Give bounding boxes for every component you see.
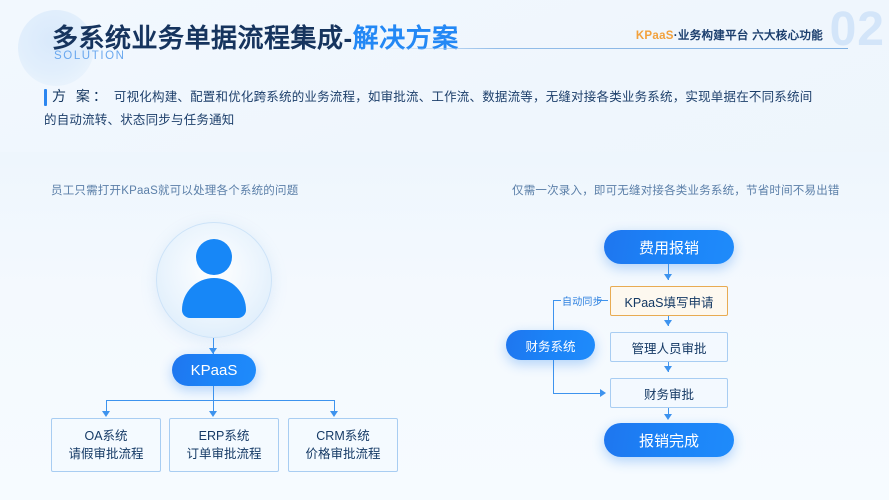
slide-header: 多系统业务单据流程集成-解决方案 SOLUTION KPaaS·业务构建平台 六…	[0, 0, 889, 78]
system-node-crm[interactable]: CRM系统 价格审批流程	[288, 418, 398, 472]
system-node-oa-title: OA系统	[84, 427, 127, 445]
brand-tag-name: KPaaS	[636, 30, 674, 42]
system-node-oa[interactable]: OA系统 请假审批流程	[51, 418, 161, 472]
header-divider	[380, 48, 848, 49]
lead-label: 方 案：	[52, 86, 110, 106]
flow-node-finance-system[interactable]: 财务系统	[506, 330, 595, 360]
system-node-erp-desc: 订单审批流程	[186, 445, 261, 463]
flow-node-kpaas-apply[interactable]: KPaaS填写申请	[610, 286, 728, 316]
flow-node-finance-approval[interactable]: 财务审批	[610, 378, 728, 408]
lead-text-line2: 的自动流转、状态同步与任务通知	[44, 109, 844, 131]
sync-dash-right	[597, 300, 608, 301]
sync-dash-left	[553, 300, 561, 301]
connector-sync-horizontal	[553, 393, 603, 394]
page-title-text: 多系统业务单据流程集成-	[52, 23, 353, 53]
connector-hub-bus	[106, 400, 334, 401]
right-panel-caption: 仅需一次录入，即可无缝对接各类业务系统，节省时间不易出错	[512, 182, 840, 198]
lead-paragraph: 方 案： 可视化构建、配置和优化跨系统的业务流程，如审批流、工作流、数据流等，无…	[44, 86, 844, 131]
arrow-to-crm	[330, 411, 338, 417]
brand-tag: KPaaS·业务构建平台 六大核心功能	[636, 27, 823, 43]
arrow-apply-to-manager	[664, 320, 672, 326]
lead-accent-bar	[44, 89, 47, 106]
arrow-to-erp	[209, 411, 217, 417]
brand-tag-rest: ·业务构建平台 六大核心功能	[674, 30, 823, 42]
arrow-manager-to-finance	[664, 366, 672, 372]
slide-root: 多系统业务单据流程集成-解决方案 SOLUTION KPaaS·业务构建平台 六…	[0, 0, 889, 500]
arrow-to-oa	[102, 411, 110, 417]
lead-text-line1: 可视化构建、配置和优化跨系统的业务流程，如审批流、工作流、数据流等，无缝对接各类…	[110, 86, 813, 108]
system-node-erp[interactable]: ERP系统 订单审批流程	[169, 418, 279, 472]
flow-node-reimbursement-done[interactable]: 报销完成	[604, 423, 734, 457]
connector-hub-stem	[213, 386, 214, 400]
section-number: 02	[830, 6, 885, 54]
arrow-finance-to-done	[664, 414, 672, 420]
employee-avatar	[156, 222, 272, 338]
system-node-erp-title: ERP系统	[199, 427, 250, 445]
left-panel-caption: 员工只需打开KPaaS就可以处理各个系统的问题	[51, 182, 298, 198]
lead-text-line1-value: 可视化构建、配置和优化跨系统的业务流程，如审批流、工作流、数据流等，无缝对接各类…	[110, 90, 813, 104]
system-node-oa-desc: 请假审批流程	[68, 445, 143, 463]
flow-node-expense-start[interactable]: 费用报销	[604, 230, 734, 264]
person-icon-head	[196, 239, 232, 275]
system-node-crm-desc: 价格审批流程	[305, 445, 380, 463]
arrow-expense-to-apply	[664, 274, 672, 280]
page-subtitle: SOLUTION	[54, 50, 126, 62]
system-node-crm-title: CRM系统	[316, 427, 369, 445]
flow-node-manager-approval[interactable]: 管理人员审批	[610, 332, 728, 362]
arrow-sync-to-finance	[600, 389, 606, 397]
kpaas-hub-node[interactable]: KPaaS	[172, 354, 256, 386]
